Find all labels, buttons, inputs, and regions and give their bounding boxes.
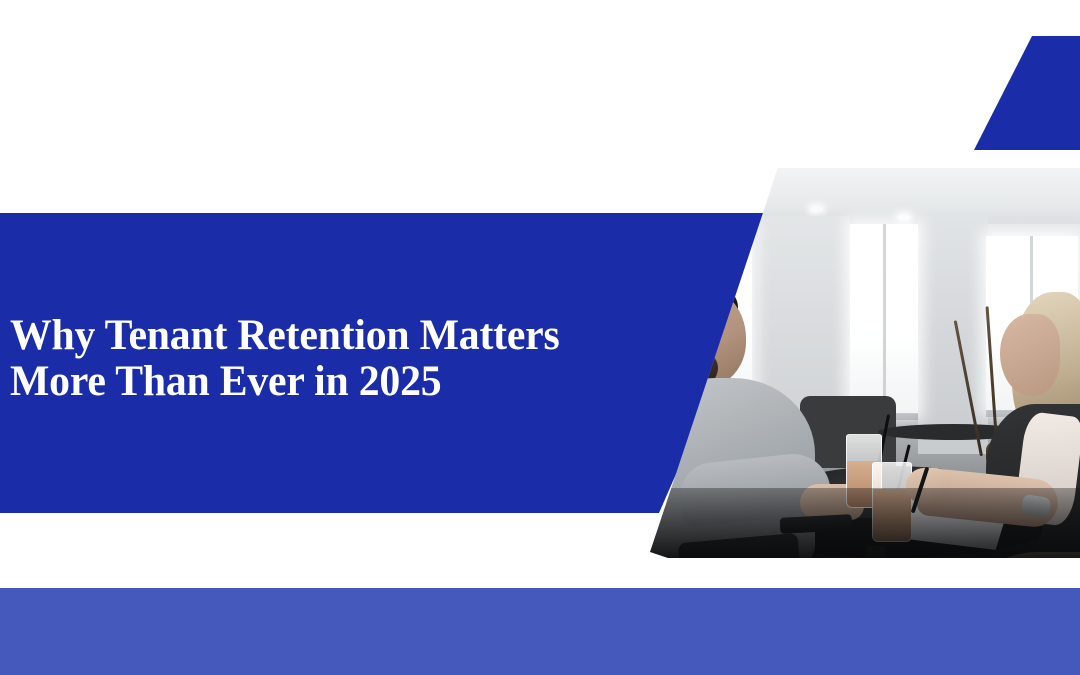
window	[850, 224, 918, 414]
title-container: Why Tenant Retention Matters More Than E…	[10, 313, 710, 405]
ceiling-light-icon	[750, 188, 766, 195]
accent-parallelogram-shape	[955, 36, 1080, 150]
floor-shadow	[650, 488, 1080, 558]
ceiling-light-icon	[810, 206, 823, 212]
reed-stem	[954, 320, 983, 456]
page-title: Why Tenant Retention Matters More Than E…	[10, 313, 689, 405]
woman-face	[1000, 314, 1060, 396]
ceiling-light-icon	[898, 214, 910, 220]
window-mullion	[883, 224, 886, 414]
blog-header-banner: Why Tenant Retention Matters More Than E…	[0, 0, 1080, 675]
bottom-accent-bar	[0, 588, 1080, 675]
